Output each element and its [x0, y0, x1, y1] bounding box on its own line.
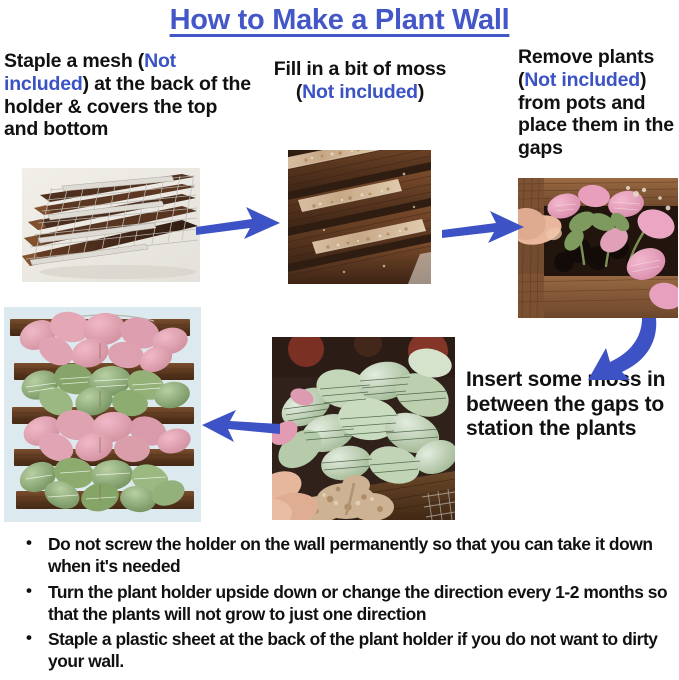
- step-1-caption: Staple a mesh (Not included) at the back…: [4, 50, 256, 141]
- list-item: Do not screw the holder on the wall perm…: [42, 533, 679, 578]
- photo-moss-filled-gaps: [288, 150, 431, 284]
- step-2-caption-text-b: ): [418, 81, 424, 103]
- step-1-caption-text-a: Staple a mesh (: [4, 50, 144, 72]
- step-2-caption-highlight-b: included: [339, 81, 418, 103]
- tips-list: Do not screw the holder on the wall perm…: [18, 533, 679, 676]
- photo-finished-plant-wall: [4, 307, 201, 522]
- list-item: Turn the plant holder upside down or cha…: [42, 581, 679, 626]
- list-item: Staple a plastic sheet at the back of th…: [42, 628, 679, 673]
- photo-moss-stationing-plants: [272, 337, 455, 520]
- arrow-left-step4-to-result: [202, 404, 280, 452]
- step-3-caption: Remove plants (Not included) from pots a…: [518, 46, 679, 160]
- step-2-caption: Fill in a bit of moss (Not included): [272, 58, 448, 104]
- page-title: How to Make a Plant Wall: [0, 4, 679, 37]
- arrow-right-step1-to-step2: [196, 203, 282, 247]
- step-2-caption-highlight-a: Not: [302, 81, 334, 103]
- step-3-caption-highlight: Not included: [524, 69, 640, 91]
- arrow-curve-down-step3-to-step4: [556, 318, 660, 384]
- photo-placing-plants-in-gaps: [518, 178, 678, 318]
- arrow-right-step2-to-step3: [442, 208, 526, 252]
- photo-wooden-holder-with-mesh: [22, 168, 200, 282]
